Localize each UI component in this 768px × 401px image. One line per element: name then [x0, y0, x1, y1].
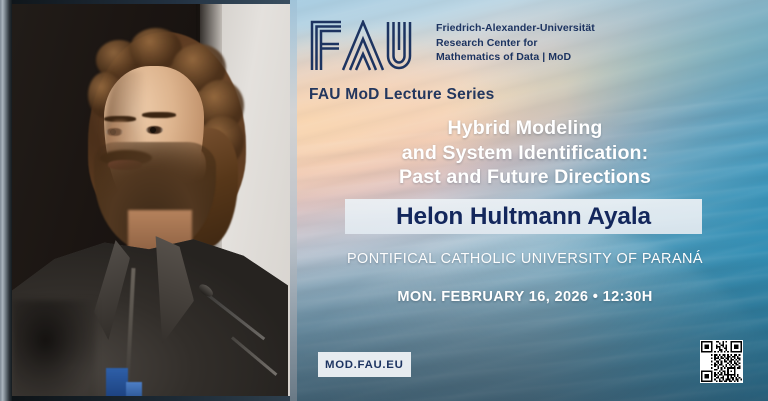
talk-title-line-2: and System Identification:: [290, 141, 760, 166]
speaker-portrait: [0, 0, 290, 401]
qr-code[interactable]: [700, 340, 743, 383]
schedule-line: MON. FEBRUARY 16, 2026 • 12:30H: [290, 289, 768, 305]
institution-line-2: Research Center for: [436, 36, 595, 51]
website-url[interactable]: MOD.FAU.EU: [325, 359, 404, 371]
speaker-name: Helon Hultmann Ayala: [396, 203, 651, 231]
website-url-band[interactable]: MOD.FAU.EU: [318, 352, 411, 377]
speaker-name-band: Helon Hultmann Ayala: [345, 199, 702, 234]
institution-lines: Friedrich-Alexander-Universität Research…: [436, 20, 595, 65]
institution-line-1: Friedrich-Alexander-Universität: [436, 21, 595, 36]
speaker-eyebrow: [142, 112, 176, 118]
speaker-affiliation: PONTIFICAL CATHOLIC UNIVERSITY OF PARANÁ: [290, 251, 768, 267]
brand-header: Friedrich-Alexander-Universität Research…: [310, 20, 595, 72]
institution-line-3: Mathematics of Data | MoD: [436, 50, 595, 65]
photo-top-bar: [0, 0, 290, 4]
poster-content-panel: Friedrich-Alexander-Universität Research…: [290, 0, 768, 401]
fau-logo: [310, 20, 422, 72]
photo-bottom-bar: [0, 396, 290, 401]
qr-code-graphic[interactable]: [701, 341, 742, 382]
lecture-poster: Friedrich-Alexander-Universität Research…: [0, 0, 768, 401]
talk-title-line-1: Hybrid Modeling: [290, 116, 760, 141]
talk-title-line-3: Past and Future Directions: [290, 165, 760, 190]
talk-title: Hybrid Modeling and System Identificatio…: [290, 116, 768, 190]
photo-left-edge: [0, 0, 12, 401]
speaker-pupil: [150, 127, 156, 133]
lecture-series-label: FAU MoD Lecture Series: [309, 86, 495, 104]
speaker-shoulder-shadow: [12, 300, 96, 401]
